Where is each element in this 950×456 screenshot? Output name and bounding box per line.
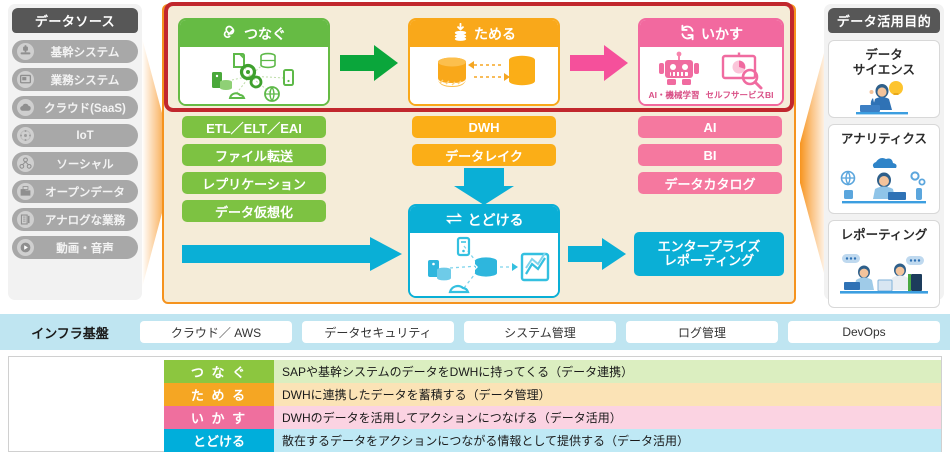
legend-description: DWHのデータを活用してアクションにつなげる（データ活用） (274, 406, 941, 429)
tech-pill-data-virtualization[interactable]: データ仮想化 (182, 200, 326, 222)
sidebar-item-analog-work[interactable]: アナログな業務 (12, 208, 138, 231)
legend-key: つ な ぐ (164, 360, 274, 383)
sidebar-item-label: 動画・音声 (38, 240, 138, 256)
tech-pill-etl[interactable]: ETL／ELT／EAI (182, 116, 326, 138)
legend-row: つ な ぐ SAPや基幹システムのデータをDWHに持ってくる（データ連携） (164, 360, 941, 383)
diagram-canvas: データソース 基幹システム 業務システム クラウド(SaaS) (0, 0, 950, 456)
infra-pill-log-management[interactable]: ログ管理 (626, 321, 778, 343)
data-purpose-panel: データ活用目的 データ サイエンス (824, 4, 944, 300)
stage-card-tameru[interactable]: ためる (408, 18, 560, 106)
open-folder-icon (17, 183, 34, 200)
link-icon (222, 24, 239, 44)
data-source-panel: データソース 基幹システム 業務システム クラウド(SaaS) (8, 4, 142, 300)
infra-pill-data-security[interactable]: データセキュリティ (302, 321, 454, 343)
purpose-card-label: データ サイエンス (853, 48, 915, 78)
purpose-card-analytics[interactable]: アナリティクス (828, 124, 940, 214)
sidebar-item-video-audio[interactable]: 動画・音声 (12, 236, 138, 259)
stage-card-title: つなぐ (244, 24, 286, 44)
robot-and-dashboard-illustration (657, 51, 765, 91)
arrow-datalake-to-todokeru (452, 168, 516, 206)
legend-key: い か す (164, 406, 274, 429)
sidebar-item-social[interactable]: ソーシャル (12, 152, 138, 175)
sidebar-item-cloud-saas[interactable]: クラウド(SaaS) (12, 96, 138, 119)
data-science-illustration (829, 78, 939, 117)
stage-card-ikasu[interactable]: いかす (638, 18, 784, 106)
people-network-icon (17, 155, 34, 172)
sidebar-item-label: IoT (38, 130, 138, 142)
stage-card-title: ためる (474, 24, 516, 44)
ikasu-caption-bi: セルフサービスBI (706, 89, 774, 101)
server-icon (17, 43, 34, 60)
stage-card-header: つなぐ (180, 20, 328, 47)
sidebar-item-label: クラウド(SaaS) (38, 100, 138, 116)
network-node-icon (17, 127, 34, 144)
stage-card-header: いかす (640, 20, 782, 47)
legend-row: とどける 散在するデータをアクションにつながる情報として提供する（データ活用） (164, 429, 941, 452)
tech-pill-data-lake[interactable]: データレイク (412, 144, 556, 166)
infra-pill-system-management[interactable]: システム管理 (464, 321, 616, 343)
connect-nodes-illustration (180, 47, 328, 104)
infrastructure-band: インフラ基盤 クラウド／ AWS データセキュリティ システム管理 ログ管理 D… (0, 314, 950, 350)
arrow-connect-to-todokeru (182, 237, 404, 271)
reporting-illustration (829, 243, 939, 307)
legend-key: とどける (164, 429, 274, 452)
analytics-illustration (829, 147, 939, 213)
legend-description: SAPや基幹システムのデータをDWHに持ってくる（データ連携） (274, 360, 941, 383)
sidebar-item-iot[interactable]: IoT (12, 124, 138, 147)
tech-pill-data-catalog[interactable]: データカタログ (638, 172, 782, 194)
monitor-icon (17, 71, 34, 88)
data-source-panel-title: データソース (12, 8, 138, 33)
infra-pill-devops[interactable]: DevOps (788, 321, 940, 343)
stage-card-todokeru[interactable]: とどける (408, 204, 560, 298)
legend-key: た め る (164, 383, 274, 406)
legend-description: DWHに連携したデータを蓄積する（データ管理） (274, 383, 941, 406)
arrow-tsunagu-to-tameru (340, 45, 400, 81)
tech-pill-ai[interactable]: AI (638, 116, 782, 138)
documents-icon (17, 211, 34, 228)
sidebar-item-open-data[interactable]: オープンデータ (12, 180, 138, 203)
stage-card-title: いかす (701, 24, 743, 44)
tech-pill-bi[interactable]: BI (638, 144, 782, 166)
stage-card-title: とどける (468, 210, 524, 230)
arrow-tameru-to-ikasu (570, 45, 630, 81)
sidebar-item-kikan-system[interactable]: 基幹システム (12, 40, 138, 63)
tech-pill-replication[interactable]: レプリケーション (182, 172, 326, 194)
legend-panel: つ な ぐ SAPや基幹システムのデータをDWHに持ってくる（データ連携） た … (8, 356, 942, 452)
play-circle-icon (17, 239, 34, 256)
sidebar-item-label: ソーシャル (38, 156, 138, 172)
legend-row: た め る DWHに連携したデータを蓄積する（データ管理） (164, 383, 941, 406)
purpose-card-data-science[interactable]: データ サイエンス (828, 40, 940, 118)
stack-download-icon (452, 23, 469, 44)
exchange-arrows-icon (445, 211, 463, 229)
cloud-icon (17, 99, 34, 116)
legend-description: 散在するデータをアクションにつながる情報として提供する（データ活用） (274, 429, 941, 452)
sidebar-item-label: 基幹システム (38, 44, 138, 60)
refresh-cycle-icon (679, 24, 696, 44)
sidebar-item-label: 業務システム (38, 72, 138, 88)
stage-card-header: ためる (410, 20, 558, 47)
tech-pill-dwh[interactable]: DWH (412, 116, 556, 138)
sidebar-item-label: オープンデータ (38, 184, 138, 200)
sidebar-item-gyomu-system[interactable]: 業務システム (12, 68, 138, 91)
stage-card-header: とどける (410, 206, 558, 233)
arrow-todokeru-to-reporting (568, 238, 628, 270)
purpose-card-reporting[interactable]: レポーティング (828, 220, 940, 308)
purpose-card-label: レポーティング (841, 228, 928, 243)
tech-pill-enterprise-reporting[interactable]: エンタープライズ レポーティング (634, 232, 784, 276)
data-purpose-panel-title: データ活用目的 (828, 8, 940, 33)
legend-row: い か す DWHのデータを活用してアクションにつなげる（データ活用） (164, 406, 941, 429)
infra-pill-cloud-aws[interactable]: クラウド／ AWS (140, 321, 292, 343)
ikasu-caption-ai: AI・機械学習 (648, 89, 699, 101)
sidebar-item-label: アナログな業務 (38, 212, 138, 228)
purpose-card-label: アナリティクス (841, 132, 927, 147)
database-sync-illustration (410, 47, 558, 104)
stage-card-tsunagu[interactable]: つなぐ (178, 18, 330, 106)
tech-pill-file-transfer[interactable]: ファイル転送 (182, 144, 326, 166)
distribute-data-illustration (410, 233, 558, 296)
infrastructure-title: インフラ基盤 (0, 323, 140, 342)
